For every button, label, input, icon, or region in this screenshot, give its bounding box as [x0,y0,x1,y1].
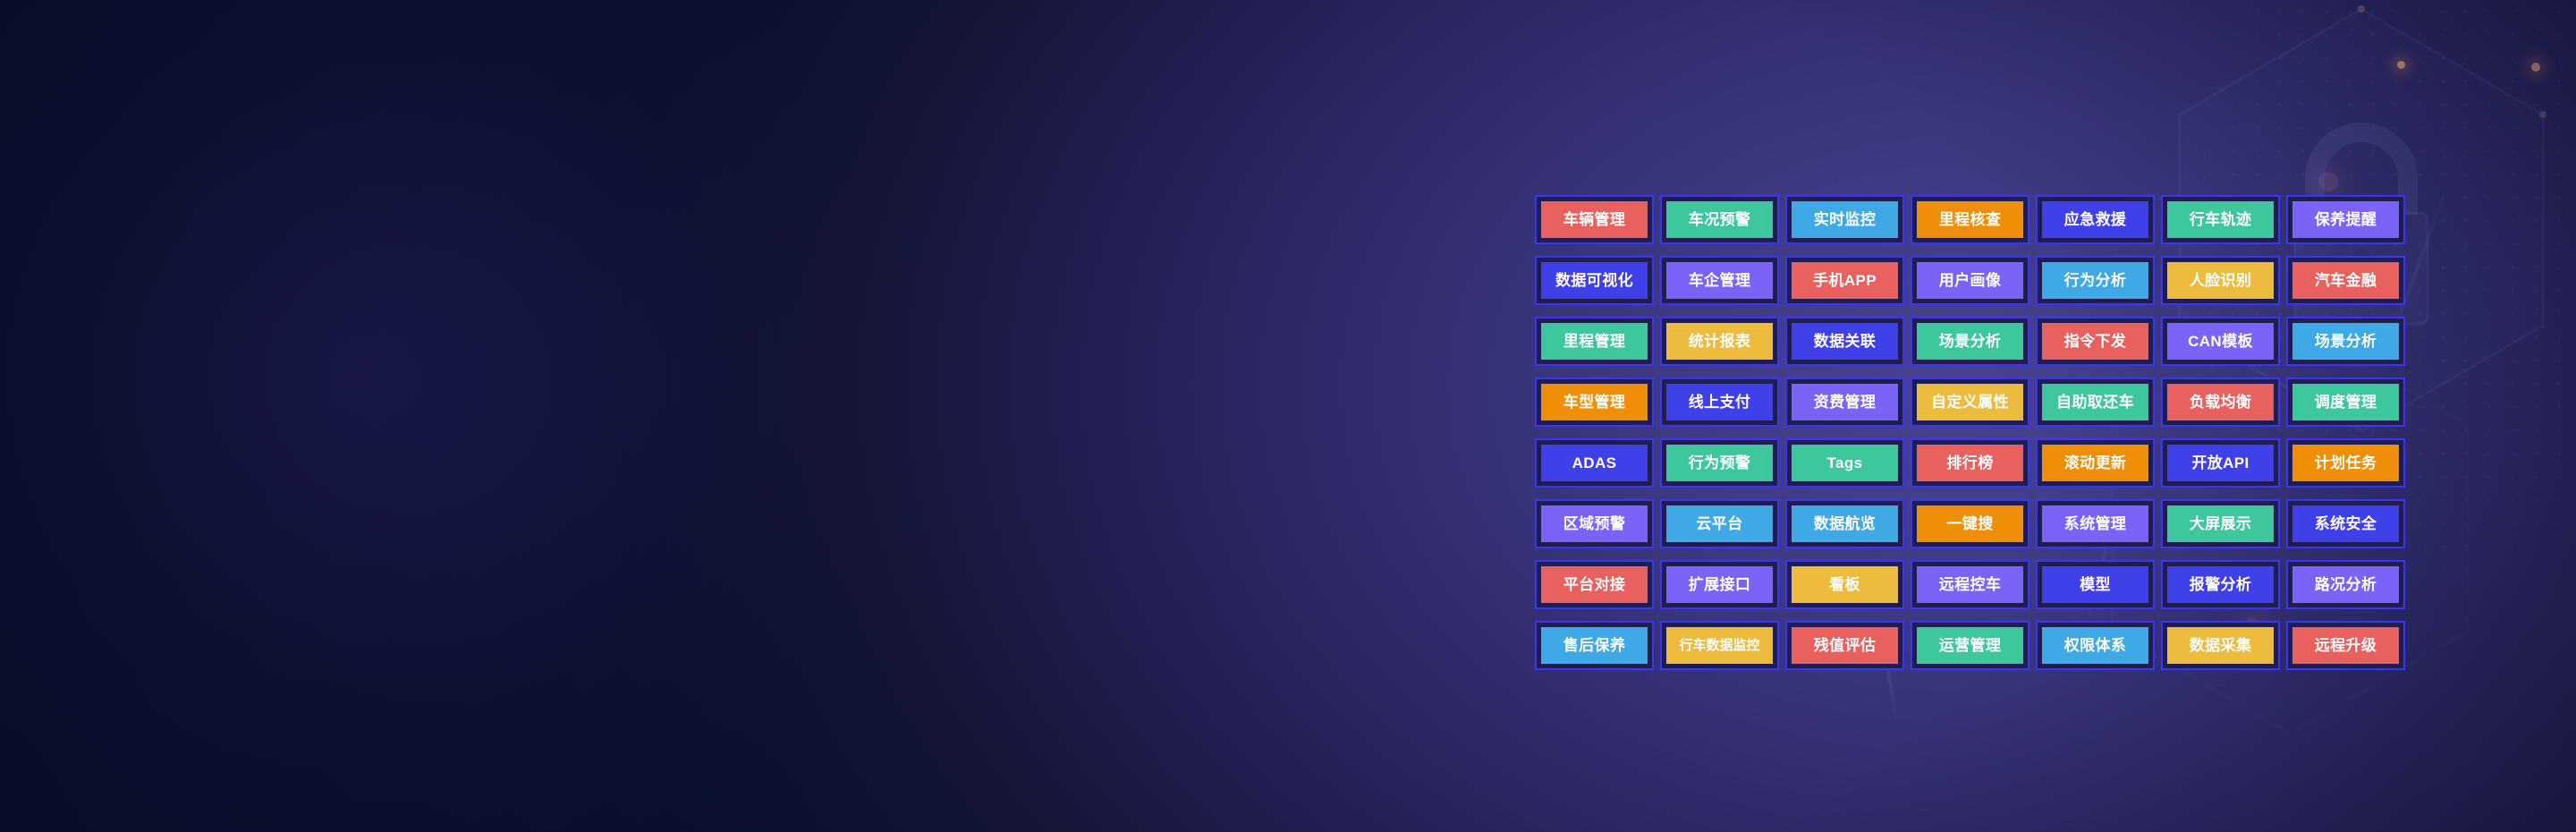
feature-tag-fill: 调度管理 [2292,384,2399,420]
feature-tag-label: 行为预警 [1689,455,1751,471]
feature-tag-fill: 资费管理 [1792,384,1898,420]
feature-tag[interactable]: 排行榜 [1911,438,2029,488]
feature-tag-label: 扩展接口 [1689,577,1751,592]
feature-tag-fill: 人脸识别 [2167,262,2274,299]
feature-tag-fill: 数据航览 [1792,505,1898,542]
feature-tag-label: 云平台 [1696,516,1742,531]
feature-tag-fill: 平台对接 [1541,566,1648,603]
feature-tag-label: 自助取还车 [2056,395,2134,410]
feature-tag[interactable]: 系统安全 [2286,499,2405,548]
feature-tag-fill: 系统安全 [2292,505,2399,542]
feature-tag[interactable]: 滚动更新 [2036,438,2155,488]
feature-tag-fill: 线上支付 [1666,384,1773,420]
feature-tag[interactable]: 开放API [2161,438,2280,488]
feature-tag[interactable]: 系统管理 [2036,499,2155,548]
feature-tag[interactable]: 汽车金融 [2286,256,2405,305]
feature-tag[interactable]: CAN模板 [2161,317,2280,366]
feature-tag[interactable]: 报警分析 [2161,560,2280,609]
feature-tag-label: 车企管理 [1689,273,1751,288]
feature-tag[interactable]: 里程管理 [1535,317,1654,366]
feature-tag-fill: 车企管理 [1666,262,1773,299]
feature-tag-fill: 云平台 [1666,505,1773,542]
feature-tag-label: 车辆管理 [1563,212,1626,227]
feature-tag-label: 模型 [2080,577,2111,592]
feature-tag[interactable]: 路况分析 [2286,560,2405,609]
feature-tag-fill: CAN模板 [2167,323,2274,360]
feature-tag-label: 自定义属性 [1931,395,2009,410]
feature-tag-fill: 大屏展示 [2167,505,2274,542]
feature-tag-label: 远程控车 [1939,577,2002,592]
feature-tag[interactable]: ADAS [1535,438,1654,488]
feature-tag-fill: 里程核查 [1917,201,2023,238]
feature-tag-fill: 行为预警 [1666,445,1773,481]
feature-tag-label: 手机APP [1813,273,1877,288]
feature-tag-label: 调度管理 [2315,395,2377,410]
feature-tag-label: 大屏展示 [2190,516,2252,531]
feature-tag[interactable]: 场景分析 [2286,317,2405,366]
feature-tag[interactable]: 看板 [1785,560,1904,609]
feature-tag-fill: 里程管理 [1541,323,1648,360]
feature-tag[interactable]: 车企管理 [1660,256,1779,305]
feature-tag[interactable]: 云平台 [1660,499,1779,548]
feature-tag-fill: 数据可视化 [1541,262,1648,299]
screen-root: 车辆管理车况预警实时监控里程核查应急救援行车轨迹保养提醒数据可视化车企管理手机A… [0,0,2576,832]
feature-tag[interactable]: 用户画像 [1911,256,2029,305]
feature-tag-label: 路况分析 [2315,577,2377,592]
feature-tag-label: 行为分析 [2064,273,2127,288]
feature-tag[interactable]: 线上支付 [1660,378,1779,427]
feature-tag[interactable]: 里程核查 [1911,195,2029,244]
feature-tag-label: 看板 [1829,577,1860,592]
feature-tag[interactable]: 残值评估 [1785,621,1904,670]
feature-tag-fill: 行车数据监控 [1666,627,1773,664]
feature-tag[interactable]: 指令下发 [2036,317,2155,366]
feature-tag-label: 一键搜 [1946,516,1993,531]
feature-tag-fill: 自定义属性 [1917,384,2023,420]
feature-tag-fill: 自助取还车 [2042,384,2148,420]
feature-tag-fill: 远程升级 [2292,627,2399,664]
feature-tag-label: 数据采集 [2190,638,2252,653]
feature-tag-fill: Tags [1792,445,1898,481]
feature-tag-label: 场景分析 [2315,334,2377,349]
feature-tag[interactable]: 模型 [2036,560,2155,609]
feature-tag-label: 车况预警 [1689,212,1751,227]
feature-tag-fill: 看板 [1792,566,1898,603]
feature-tag-label: 数据关联 [1814,334,1877,349]
feature-tag-fill: 车辆管理 [1541,201,1648,238]
feature-tag[interactable]: 数据航览 [1785,499,1904,548]
feature-tag-label: 实时监控 [1814,212,1877,227]
feature-tag-fill: 开放API [2167,445,2274,481]
feature-tag-fill: 车况预警 [1666,201,1773,238]
feature-tag[interactable]: 扩展接口 [1660,560,1779,609]
feature-tag[interactable]: 保养提醒 [2286,195,2405,244]
feature-tag-label: CAN模板 [2188,334,2253,349]
feature-tag-fill: 报警分析 [2167,566,2274,603]
feature-tag[interactable]: 车况预警 [1660,195,1779,244]
feature-tag-fill: 排行榜 [1917,445,2023,481]
feature-tag-fill: 一键搜 [1917,505,2023,542]
feature-tag[interactable]: 数据可视化 [1535,256,1654,305]
feature-tag-label: 行车轨迹 [2190,212,2252,227]
feature-tag-label: 系统安全 [2315,516,2377,531]
feature-tag-label: 数据航览 [1814,516,1877,531]
feature-tag[interactable]: 平台对接 [1535,560,1654,609]
feature-tag-label: 系统管理 [2064,516,2127,531]
feature-tag[interactable]: 行车轨迹 [2161,195,2280,244]
feature-tag[interactable]: 调度管理 [2286,378,2405,427]
feature-tag[interactable]: 车型管理 [1535,378,1654,427]
feature-tag-fill: 汽车金融 [2292,262,2399,299]
feature-tag-label: 用户画像 [1939,273,2002,288]
feature-tag-label: 运营管理 [1939,638,2002,653]
feature-tag-label: Tags [1826,455,1862,471]
feature-tag-label: 里程核查 [1939,212,2002,227]
feature-tag-label: 区域预警 [1563,516,1626,531]
feature-tag[interactable]: 远程控车 [1911,560,2029,609]
feature-tag-label: 残值评估 [1814,638,1877,653]
feature-tag-fill: 车型管理 [1541,384,1648,420]
feature-tag-label: 数据可视化 [1555,273,1633,288]
feature-tag-fill: ADAS [1541,445,1648,481]
feature-tag-fill: 滚动更新 [2042,445,2148,481]
feature-tag-fill: 手机APP [1792,262,1898,299]
feature-tag-label: 滚动更新 [2064,455,2127,471]
feature-tag[interactable]: 行车数据监控 [1660,621,1779,670]
feature-tag-fill: 指令下发 [2042,323,2148,360]
feature-tag-fill: 系统管理 [2042,505,2148,542]
feature-tag-fill: 行车轨迹 [2167,201,2274,238]
feature-tag[interactable]: 场景分析 [1911,317,2029,366]
feature-tag-label: 报警分析 [2190,577,2252,592]
feature-tag[interactable]: 自定义属性 [1911,378,2029,427]
feature-tag-fill: 场景分析 [1917,323,2023,360]
feature-tag-label: 权限体系 [2064,638,2127,653]
feature-tag[interactable]: 人脸识别 [2161,256,2280,305]
feature-tag-fill: 扩展接口 [1666,566,1773,603]
feature-tag[interactable]: 行为分析 [2036,256,2155,305]
feature-tag[interactable]: 一键搜 [1911,499,2029,548]
feature-tag[interactable]: 行为预警 [1660,438,1779,488]
feature-tag-fill: 售后保养 [1541,627,1648,664]
feature-tag-fill: 远程控车 [1917,566,2023,603]
feature-tag-label: 负载均衡 [2190,395,2252,410]
feature-tag-fill: 模型 [2042,566,2148,603]
feature-tag[interactable]: 权限体系 [2036,621,2155,670]
feature-tag-label: 指令下发 [2064,334,2127,349]
feature-tag[interactable]: 运营管理 [1911,621,2029,670]
feature-tag-label: 统计报表 [1689,334,1751,349]
feature-tag-label: 车型管理 [1563,395,1626,410]
feature-tag[interactable]: 数据采集 [2161,621,2280,670]
feature-tag[interactable]: 资费管理 [1785,378,1904,427]
feature-tag[interactable]: 统计报表 [1660,317,1779,366]
feature-tag-fill: 区域预警 [1541,505,1648,542]
feature-tag-label: 资费管理 [1814,395,1877,410]
feature-tag[interactable]: 计划任务 [2286,438,2405,488]
feature-tag-fill: 场景分析 [2292,323,2399,360]
feature-tag-fill: 用户画像 [1917,262,2023,299]
feature-tag-label: 里程管理 [1563,334,1626,349]
feature-tag-fill: 权限体系 [2042,627,2148,664]
feature-tag-fill: 统计报表 [1666,323,1773,360]
feature-tag-label: 行车数据监控 [1679,639,1759,652]
feature-tag[interactable]: 大屏展示 [2161,499,2280,548]
feature-tag-label: 应急救援 [2064,212,2127,227]
feature-tag[interactable]: 负载均衡 [2161,378,2280,427]
feature-tag-label: 线上支付 [1689,395,1751,410]
feature-tag[interactable]: 手机APP [1785,256,1904,305]
feature-tag-label: 售后保养 [1563,638,1626,653]
feature-tag-fill: 应急救援 [2042,201,2148,238]
feature-tag-fill: 负载均衡 [2167,384,2274,420]
feature-tag-label: 计划任务 [2315,455,2377,471]
feature-tag[interactable]: 车辆管理 [1535,195,1654,244]
feature-tag[interactable]: 实时监控 [1785,195,1904,244]
feature-tag-label: 汽车金融 [2315,273,2377,288]
feature-tag[interactable]: 售后保养 [1535,621,1654,670]
feature-tag[interactable]: Tags [1785,438,1904,488]
feature-tag-grid: 车辆管理车况预警实时监控里程核查应急救援行车轨迹保养提醒数据可视化车企管理手机A… [1535,195,2405,670]
feature-tag-label: ADAS [1572,455,1617,471]
feature-tag-label: 场景分析 [1939,334,2002,349]
feature-tag[interactable]: 区域预警 [1535,499,1654,548]
feature-tag-fill: 实时监控 [1792,201,1898,238]
feature-tag[interactable]: 远程升级 [2286,621,2405,670]
feature-tag-label: 远程升级 [2315,638,2377,653]
feature-tag-fill: 行为分析 [2042,262,2148,299]
feature-tag-fill: 数据采集 [2167,627,2274,664]
feature-tag-fill: 计划任务 [2292,445,2399,481]
feature-tag-fill: 残值评估 [1792,627,1898,664]
feature-tag-fill: 运营管理 [1917,627,2023,664]
feature-tag-fill: 保养提醒 [2292,201,2399,238]
feature-tag-label: 保养提醒 [2315,212,2377,227]
feature-tag-label: 开放API [2191,455,2249,471]
feature-tag[interactable]: 数据关联 [1785,317,1904,366]
feature-tag-label: 平台对接 [1563,577,1626,592]
feature-tag[interactable]: 应急救援 [2036,195,2155,244]
feature-tag-fill: 数据关联 [1792,323,1898,360]
feature-tag[interactable]: 自助取还车 [2036,378,2155,427]
feature-tag-label: 人脸识别 [2190,273,2252,288]
feature-tag-fill: 路况分析 [2292,566,2399,603]
feature-tag-label: 排行榜 [1946,455,1993,471]
